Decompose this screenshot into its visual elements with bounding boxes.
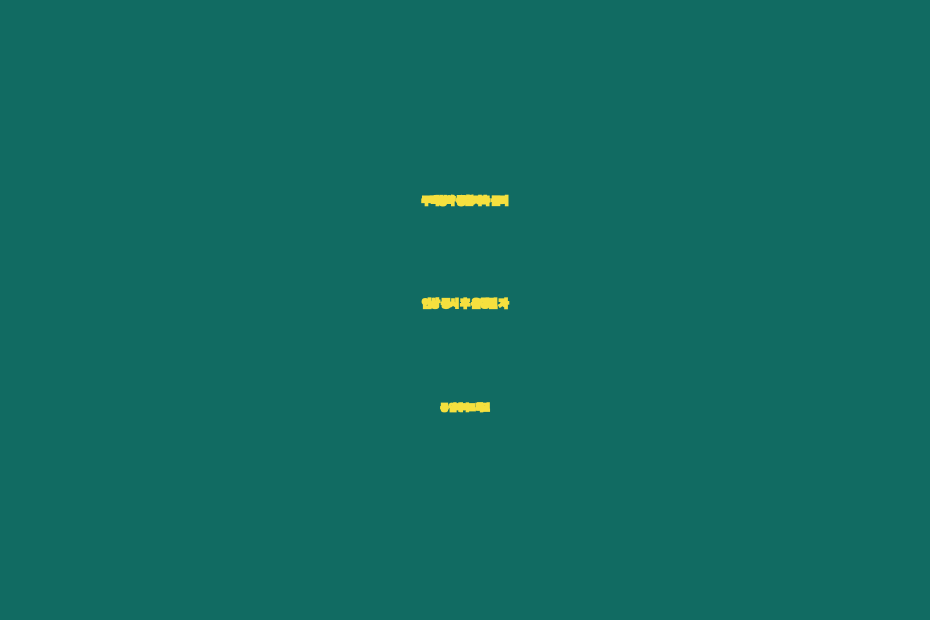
headline-line-2: 인상 공시 후 은행별 자	[22, 253, 908, 356]
headline-line-1: 주택청약 종합저축 금리	[22, 150, 908, 253]
text-banner-card: 주택청약 종합저축 금리 인상 공시 후 은행별 자 동 업데이트 확인	[0, 0, 930, 620]
headline-block: 주택청약 종합저축 금리 인상 공시 후 은행별 자 동 업데이트 확인	[0, 150, 930, 459]
headline-line-3: 동 업데이트 확인	[22, 356, 908, 459]
